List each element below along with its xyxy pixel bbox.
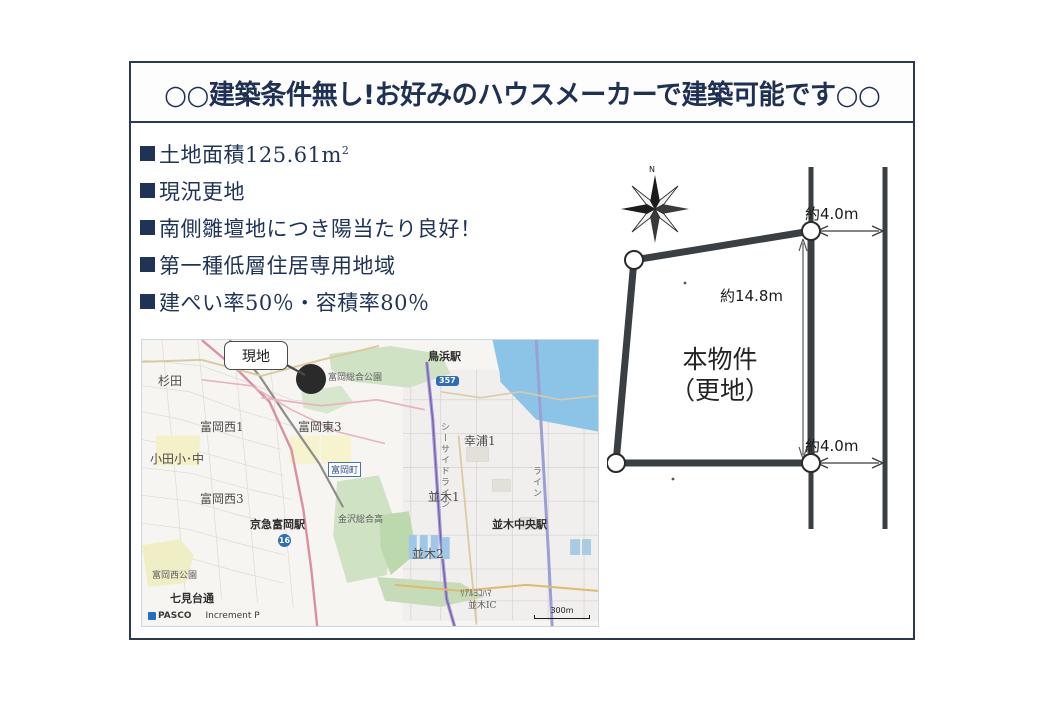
corner-vertex-nw [625, 251, 643, 269]
feature-label: 現況更地 [159, 176, 245, 206]
bullet-square-icon [140, 146, 155, 161]
feature-label: 第一種低層住居専用地域 [159, 250, 396, 280]
map-scale-bar: 300m [534, 606, 590, 619]
dimension-label-top: 約4.0m [805, 203, 858, 224]
site-callout-label: 現地 [224, 341, 288, 370]
bullet-square-icon [140, 294, 155, 309]
scale-value: 300m [534, 606, 590, 615]
compass-north-label: N [649, 165, 655, 174]
bullet-square-icon [140, 220, 155, 235]
dimension-label-bottom: 約4.0m [805, 435, 858, 456]
feature-label: 建ぺい率50％・容積率80％ [159, 287, 429, 317]
dimension-line-bottom [817, 458, 883, 468]
dimension-label-side: 約14.8m [720, 285, 783, 306]
feature-item-zoning: 第一種低層住居専用地域 [140, 246, 560, 283]
pasco-label: PASCO [158, 611, 191, 621]
corner-vertex-se [802, 454, 820, 472]
corner-vertex-sw [607, 454, 625, 472]
feature-list: 土地面積125.61m2 現況更地 南側雛壇地につき陽当たり良好！ 第一種低層住… [140, 135, 560, 320]
bullet-square-icon [140, 257, 155, 272]
map-base-graphic [142, 340, 598, 627]
location-map[interactable]: 杉田 富岡西1 富岡東3 小田小･中 富岡西3 幸浦1 並木1 並木2 富岡総合… [141, 339, 599, 627]
property-label-line2: （更地） [670, 376, 770, 407]
feature-item-land-area: 土地面積125.61m2 [140, 135, 560, 172]
map-attribution: PASCO Increment P [148, 611, 260, 621]
property-label-line1: 本物件 [670, 345, 770, 376]
map-label-town-box: 富岡町 [328, 462, 361, 477]
feature-item-sunlight: 南側雛壇地につき陽当たり良好！ [140, 209, 560, 246]
bullet-square-icon [140, 183, 155, 198]
corner-vertex-ne [802, 222, 820, 240]
pasco-mark-icon [148, 612, 156, 620]
flyer-frame: ○○建築条件無し!お好みのハウスメーカーで建築可能です○○ 土地面積125.61… [129, 61, 915, 640]
feature-item-current-status: 現況更地 [140, 172, 560, 209]
page-title: ○○建築条件無し!お好みのハウスメーカーで建築可能です○○ [164, 73, 880, 112]
feature-label: 南側雛壇地につき陽当たり良好！ [159, 213, 482, 243]
increment-p-label: Increment P [205, 611, 259, 621]
feature-item-coverage-ratio: 建ぺい率50％・容積率80％ [140, 283, 560, 320]
compass-rose-icon [621, 175, 689, 243]
route-shield-icon: 357 [436, 376, 459, 386]
feature-label: 土地面積125.61m2 [159, 139, 349, 169]
title-band: ○○建築条件無し!お好みのハウスメーカーで建築可能です○○ [131, 63, 913, 123]
pasco-logo: PASCO [148, 611, 191, 621]
scale-line-icon [534, 615, 590, 619]
plot-diagram: N 本物件 （更地） 約4.0m 約4.0m 約14.8m [607, 163, 909, 533]
route-shield-icon: 16 [278, 534, 291, 547]
dimension-line-top [817, 226, 883, 236]
property-label: 本物件 （更地） [670, 345, 770, 406]
